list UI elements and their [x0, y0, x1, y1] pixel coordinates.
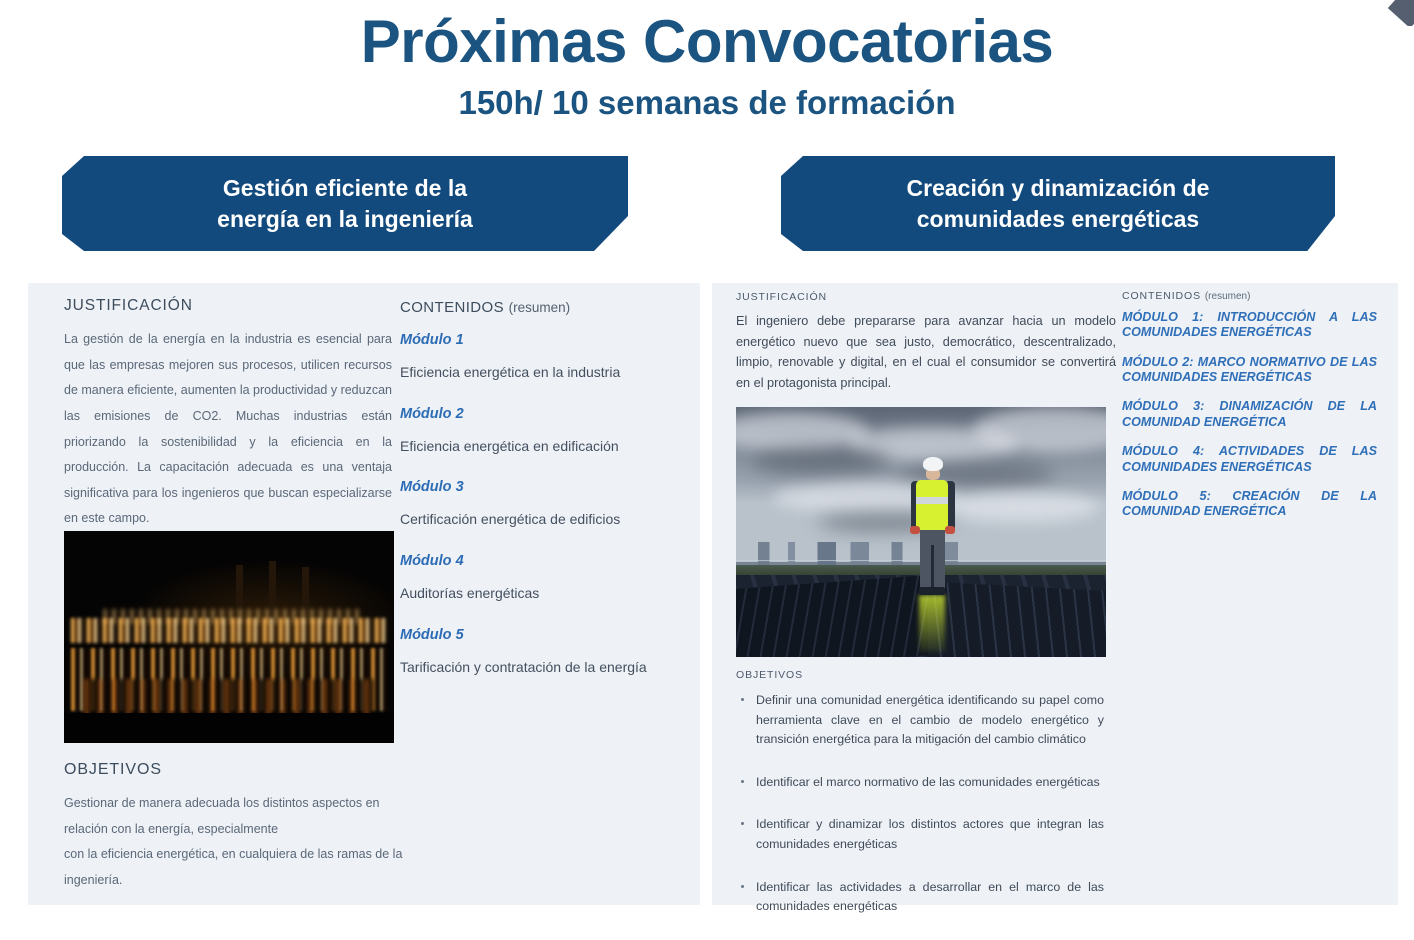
banner-right-line2: comunidades energéticas	[881, 204, 1236, 235]
right-module-2: MÓDULO 2: MARCO NORMATIVO DE LAS COMUNID…	[1122, 355, 1377, 386]
hard-hat-icon	[923, 457, 943, 471]
right-objective-3: Identificar y dinamizar los distintos ac…	[736, 815, 1104, 854]
left-justification-heading: JUSTIFICACIÓN	[64, 297, 392, 315]
banner-left-line2: energía en la ingeniería	[191, 204, 499, 235]
left-objectives-line2: con la eficiencia energética, en cualqui…	[64, 847, 402, 887]
right-objective-1: Definir una comunidad energética identif…	[736, 691, 1104, 750]
page-title: Próximas Convocatorias	[0, 12, 1414, 72]
worker-reflection	[919, 595, 945, 653]
banner-right-line1: Creación y dinamización de	[881, 173, 1236, 204]
left-module-5-title: Módulo 5	[400, 627, 678, 643]
left-justification-column: JUSTIFICACIÓN La gestión de la energía e…	[64, 297, 392, 532]
left-module-1-title: Módulo 1	[400, 332, 678, 348]
left-module-5-desc: Tarificación y contratación de la energí…	[400, 657, 678, 679]
right-contents-heading-note: (resumen)	[1205, 291, 1251, 302]
right-module-4: MÓDULO 4: ACTIVIDADES DE LAS COMUNIDADES…	[1122, 444, 1377, 475]
left-module-3-desc: Certificación energética de edificios	[400, 509, 678, 531]
right-module-3: MÓDULO 3: DINAMIZACIÓN DE LA COMUNIDAD E…	[1122, 399, 1377, 430]
right-objective-2: Identificar el marco normativo de las co…	[736, 773, 1104, 793]
left-contents-column: CONTENIDOS (resumen) Módulo 1 Eficiencia…	[400, 299, 678, 700]
right-objectives-heading: OBJETIVOS	[736, 669, 803, 681]
right-module-1: MÓDULO 1: INTRODUCCIÓN A LAS COMUNIDADES…	[1122, 310, 1377, 341]
left-contents-heading-label: CONTENIDOS	[400, 299, 504, 316]
left-contents-heading: CONTENIDOS (resumen)	[400, 299, 678, 316]
left-module-3-title: Módulo 3	[400, 479, 678, 495]
left-contents-heading-note: (resumen)	[509, 300, 571, 315]
course-panel-left: JUSTIFICACIÓN La gestión de la energía e…	[28, 283, 700, 905]
left-objectives-text: Gestionar de manera adecuada los distint…	[64, 791, 404, 894]
right-contents-heading-label: CONTENIDOS	[1122, 290, 1201, 302]
right-contents-heading: CONTENIDOS (resumen)	[1122, 290, 1377, 302]
course-panel-right: JUSTIFICACIÓN El ingeniero debe preparar…	[712, 283, 1398, 905]
right-justification-text: El ingeniero debe prepararse para avanza…	[736, 311, 1116, 393]
page-subtitle: 150h/ 10 semanas de formación	[0, 86, 1414, 119]
worker-solar-rooftop-image	[736, 407, 1106, 657]
left-module-1-desc: Eficiencia energética en la industria	[400, 362, 678, 384]
left-module-4-title: Módulo 4	[400, 553, 678, 569]
course-banner-right[interactable]: Creación y dinamización de comunidades e…	[781, 156, 1335, 251]
banner-left-line1: Gestión eficiente de la	[191, 173, 499, 204]
left-objectives-heading: OBJETIVOS	[64, 761, 162, 779]
left-justification-text: La gestión de la energía en la industria…	[64, 327, 392, 532]
right-contents-column: CONTENIDOS (resumen) MÓDULO 1: INTRODUCC…	[1122, 290, 1377, 520]
left-module-4-desc: Auditorías energéticas	[400, 583, 678, 605]
left-module-2-title: Módulo 2	[400, 406, 678, 422]
right-justification-heading: JUSTIFICACIÓN	[736, 291, 1116, 303]
page-header: Próximas Convocatorias 150h/ 10 semanas …	[0, 0, 1414, 119]
course-banner-left[interactable]: Gestión eficiente de la energía en la in…	[62, 156, 628, 251]
right-objectives-list: Definir una comunidad energética identif…	[736, 691, 1104, 940]
right-justification-column: JUSTIFICACIÓN El ingeniero debe preparar…	[736, 291, 1116, 393]
right-module-5: MÓDULO 5: CREACIÓN DE LA COMUNIDAD ENERG…	[1122, 489, 1377, 520]
left-objectives-line1: Gestionar de manera adecuada los distint…	[64, 796, 379, 836]
left-module-2-desc: Eficiencia energética en edificación	[400, 436, 678, 458]
industrial-plant-night-image	[64, 531, 394, 743]
right-objective-4: Identificar las actividades a desarrolla…	[736, 878, 1104, 917]
